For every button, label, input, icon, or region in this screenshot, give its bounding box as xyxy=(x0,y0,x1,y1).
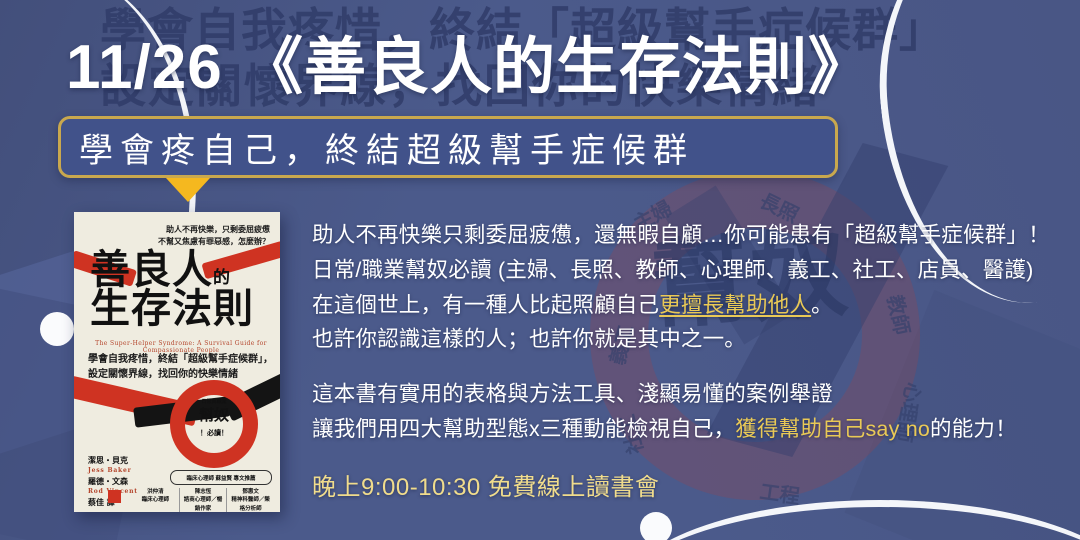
book-endorser-0: 洪仲清 臨床心理師 xyxy=(132,488,179,512)
decorative-dot-bottom xyxy=(640,512,672,540)
book-title-line2: 生存法則 xyxy=(90,285,254,332)
book-endorser-0-name: 洪仲清 xyxy=(134,488,177,496)
book-subtitle-line2: 設定關懷界線，找回你的快樂情緒 xyxy=(88,367,274,382)
body-paragraph-3-line-1: 這本書有實用的表格與方法工具、淺顯易懂的案例舉證 xyxy=(312,377,1072,412)
subtitle-banner: 學會疼自己，終結超級幫手症候群 xyxy=(58,116,838,178)
book-endorser-1-name: 陳志恆 xyxy=(182,488,225,496)
body-p3-l2-pre: 讓我們用四大幫助型態x三種動能檢視自己， xyxy=(312,417,735,441)
book-tagline-line1: 助人不再快樂，只剩委屈疲憊 xyxy=(84,224,270,236)
page-title: 11/26 《善良人的生存法則》 xyxy=(66,16,871,106)
body-copy: 助人不再快樂只剩委屈疲憊，還無暇自顧…你可能患有「超級幫手症候群」！ 日常/職業… xyxy=(312,218,1072,447)
body-paragraph-2-line-1: 在這個世上，有一種人比起照顧自己更擅長幫助他人。 xyxy=(312,288,1072,323)
book-subtitle-line1: 學會自我疼惜，終結「超級幫手症候群」， xyxy=(88,352,274,367)
book-publisher-logo-icon xyxy=(108,490,121,503)
book-endorser-0-role: 臨床心理師 xyxy=(134,496,177,504)
body-paragraph-1-line-1: 助人不再快樂只剩委屈疲憊，還無暇自顧…你可能患有「超級幫手症候群」！ xyxy=(312,218,1072,253)
book-author-1-en: Jess Baker xyxy=(88,466,138,475)
subtitle-text: 學會疼自己，終結超級幫手症候群 xyxy=(61,123,694,172)
body-p2-l1-post: 。 xyxy=(811,293,833,317)
body-paragraph-3-line-2: 讓我們用四大幫助型態x三種動能檢視自己，獲得幫助自己say no的能力！ xyxy=(312,412,1072,447)
body-p3-l2-highlight: 獲得幫助自己say no xyxy=(735,417,930,441)
paragraph-spacer xyxy=(312,357,1072,377)
book-cover-image: 助人不再快樂，只剩委屈疲憊 不幫又焦慮有罪惡感，怎麼辦？ 善良人的 生存法則 T… xyxy=(74,212,280,512)
pointer-triangle-icon xyxy=(166,178,210,202)
book-endorser-2-name: 鄧惠文 xyxy=(229,488,272,496)
body-paragraph-2-line-2: 也許你認識這樣的人；也許你就是其中之一。 xyxy=(312,322,1072,357)
book-author-2-zh: 羅德‧文森 xyxy=(88,475,138,487)
book-subtitle: 學會自我疼惜，終結「超級幫手症候群」， 設定關懷界線，找回你的快樂情緒 xyxy=(88,352,274,382)
book-endorser-2: 鄧惠文 精神科醫師／榮格分析師 xyxy=(226,488,274,512)
body-p3-l2-post: 的能力！ xyxy=(930,417,1017,441)
body-paragraph-1-line-2: 日常/職業幫奴必讀 (主婦、長照、教師、心理師、義工、社工、店員、醫護) xyxy=(312,253,1072,288)
book-ring-graphic xyxy=(170,380,258,468)
book-ring-core-text: 幫奴 xyxy=(184,408,244,424)
book-title: 善良人的 生存法則 xyxy=(90,250,270,328)
book-recommender: 臨床心理師 蘇益賢 專文推薦 xyxy=(170,470,272,485)
book-endorser-list: 洪仲清 臨床心理師 陳志恆 諮商心理師／暢銷作家 鄧惠文 精神科醫師／榮格分析師 xyxy=(132,488,274,512)
book-ring-top-label: 日常與職業 xyxy=(184,398,244,405)
body-p2-l1-pre: 在這個世上，有一種人比起照顧自己 xyxy=(312,293,659,317)
book-endorser-2-role: 精神科醫師／榮格分析師 xyxy=(229,496,272,512)
book-endorser-1: 陳志恆 諮商心理師／暢銷作家 xyxy=(179,488,227,512)
body-p2-l1-highlight: 更擅長幫助他人 xyxy=(659,293,811,317)
decorative-dot-left xyxy=(40,312,74,346)
book-tagline: 助人不再快樂，只剩委屈疲憊 不幫又焦慮有罪惡感，怎麼辦？ xyxy=(84,224,270,247)
book-author-1-zh: 潔思‧貝克 xyxy=(88,454,138,466)
book-ring-bottom-label: ！必讀！ xyxy=(182,428,246,438)
event-time-line: 晚上9:00-10:30 免費線上讀書會 xyxy=(312,467,659,502)
book-endorser-1-role: 諮商心理師／暢銷作家 xyxy=(182,496,225,512)
poster-canvas: 幫奴 主婦 長照 教師 心理師 義工 社工 工程 學會自我疼惜，終結「超級幫手症… xyxy=(0,0,1080,540)
